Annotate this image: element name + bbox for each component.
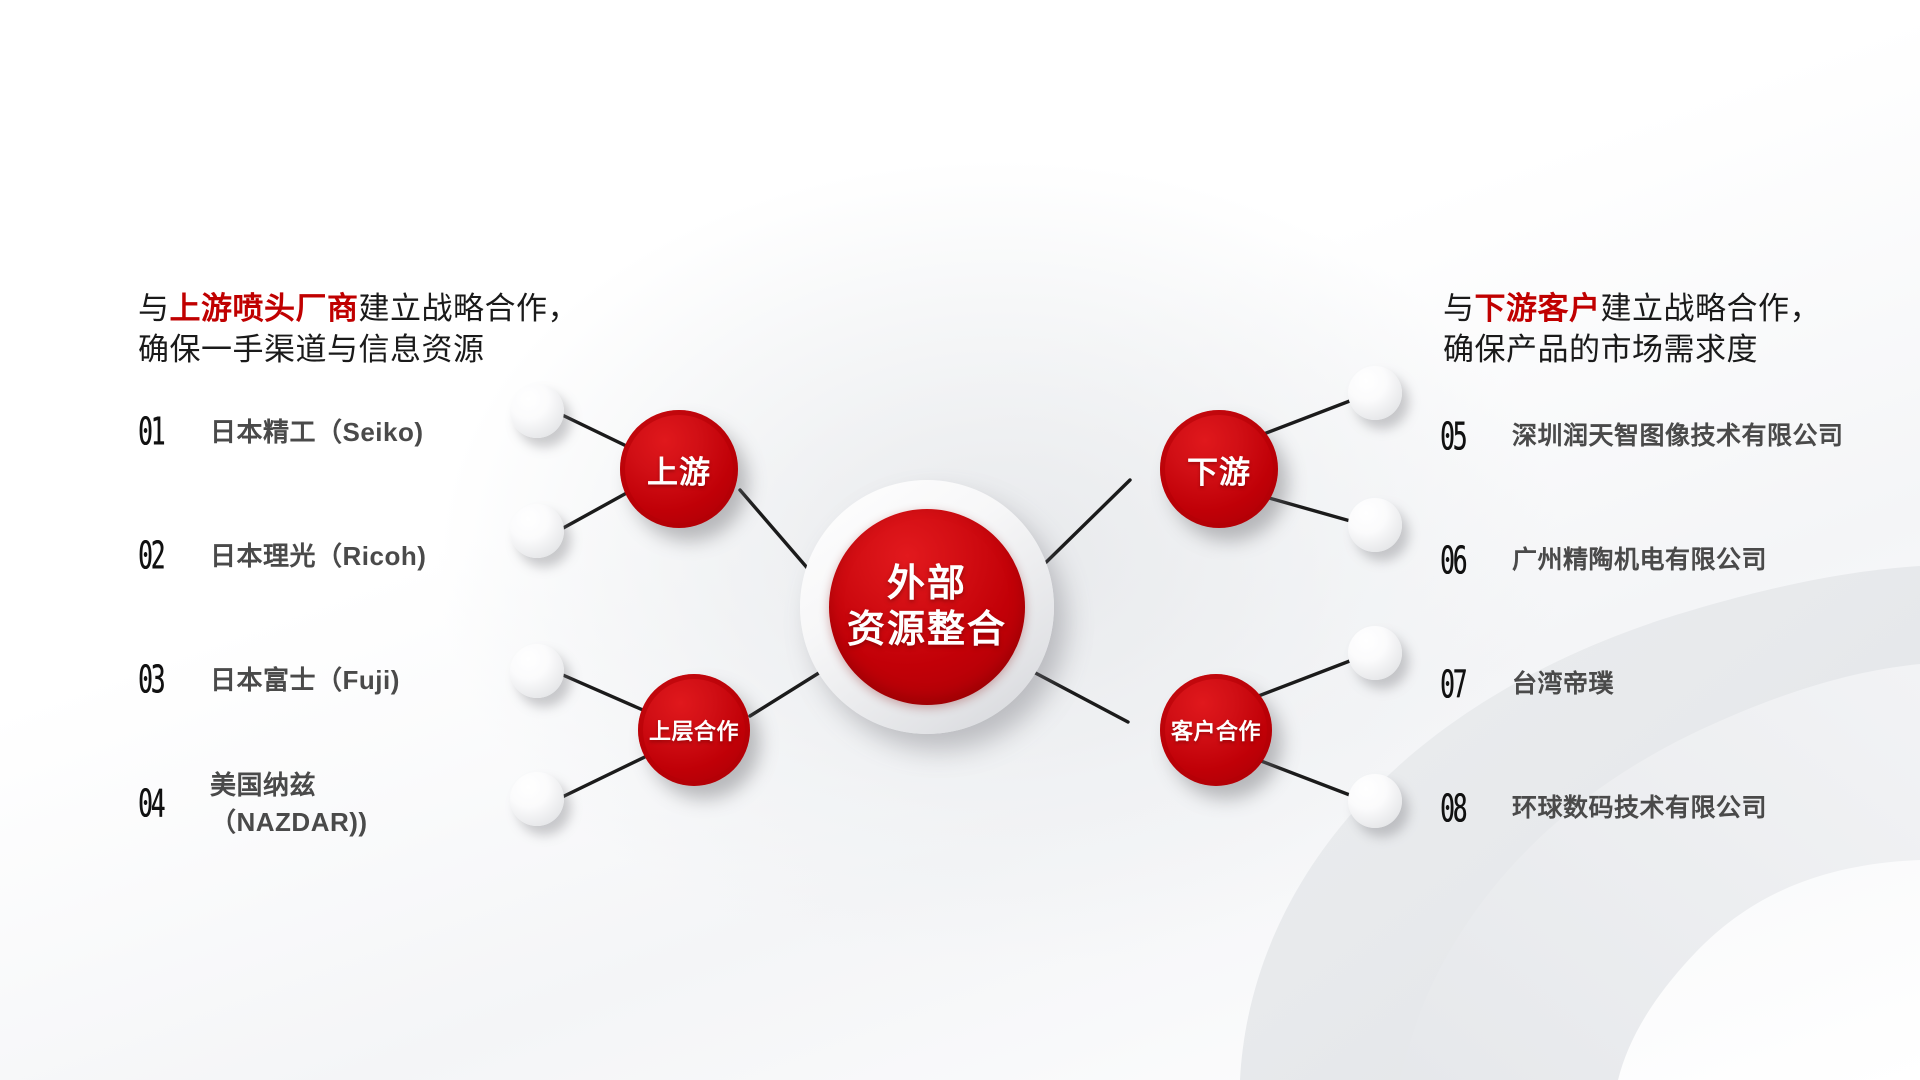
connector-dot-02 [510,504,564,558]
connector-dot-04 [510,772,564,826]
list-item-label: 日本富士（Fuji) [210,662,400,699]
header-left-highlight: 上游喷头厂商 [170,291,359,326]
connector-dot-03 [510,644,564,698]
node-downstream[interactable]: 下游 [1160,410,1278,528]
header-right-prefix: 与 [1443,291,1475,326]
list-upstream-suppliers: 01 日本精工（Seiko) 02 日本理光（Ricoh) 03 日本富士（Fu… [138,370,518,866]
list-downstream-customers: 05 深圳润天智图像技术有限公司 06 广州精陶机电有限公司 07 台湾帝璞 0… [1440,375,1870,871]
list-item-number: 03 [138,658,190,703]
list-item[interactable]: 08 环球数码技术有限公司 [1440,747,1870,871]
hub-line-1: 外部 [887,561,967,607]
header-left: 与上游喷头厂商建立战略合作， 确保一手渠道与信息资源 [138,246,579,371]
list-item[interactable]: 02 日本理光（Ricoh) [138,494,518,618]
list-item-label: 环球数码技术有限公司 [1512,791,1767,827]
list-item-number: 06 [1440,539,1492,584]
list-item[interactable]: 03 日本富士（Fuji) [138,618,518,742]
node-customer-partner-label: 客户合作 [1171,714,1261,746]
node-customer-partner[interactable]: 客户合作 [1160,674,1272,786]
list-item-label: 深圳润天智图像技术有限公司 [1512,419,1844,455]
list-item-label: 广州精陶机电有限公司 [1512,543,1767,579]
list-item-number: 04 [138,782,190,827]
connector-dot-01 [510,384,564,438]
list-item[interactable]: 06 广州精陶机电有限公司 [1440,499,1870,623]
list-item-number: 08 [1440,787,1492,832]
node-downstream-label: 下游 [1187,447,1251,492]
connector-dot-06 [1348,498,1402,552]
connector-dot-08 [1348,774,1402,828]
list-item-label: 台湾帝璞 [1512,667,1614,703]
list-item[interactable]: 01 日本精工（Seiko) [138,370,518,494]
header-right: 与下游客户建立战略合作， 确保产品的市场需求度 [1443,246,1821,371]
hub-core[interactable]: 外部 资源整合 [829,509,1025,705]
list-item-label: 美国纳兹 （NAZDAR)) [210,767,368,841]
list-item-label: 日本精工（Seiko) [210,414,424,451]
node-upstream-partner[interactable]: 上层合作 [638,674,750,786]
header-left-prefix: 与 [138,291,170,326]
list-item[interactable]: 04 美国纳兹 （NAZDAR)) [138,742,518,866]
list-item-number: 01 [138,410,190,455]
node-upstream[interactable]: 上游 [620,410,738,528]
connector-dot-07 [1348,626,1402,680]
list-item-number: 07 [1440,663,1492,708]
list-item-number: 02 [138,534,190,579]
list-item-label: 日本理光（Ricoh) [210,538,426,575]
connector-dot-05 [1348,366,1402,420]
slide-canvas: 上游 上层合作 下游 客户合作 外部 资源整合 与上游喷头厂商建立战略合作， 确… [0,0,1920,1080]
node-upstream-partner-label: 上层合作 [649,714,739,746]
hub-line-2: 资源整合 [847,607,1007,653]
list-item[interactable]: 07 台湾帝璞 [1440,623,1870,747]
node-upstream-label: 上游 [647,447,711,492]
list-item-number: 05 [1440,415,1492,460]
header-right-highlight: 下游客户 [1475,291,1601,326]
hub-ring[interactable]: 外部 资源整合 [800,480,1054,734]
list-item[interactable]: 05 深圳润天智图像技术有限公司 [1440,375,1870,499]
